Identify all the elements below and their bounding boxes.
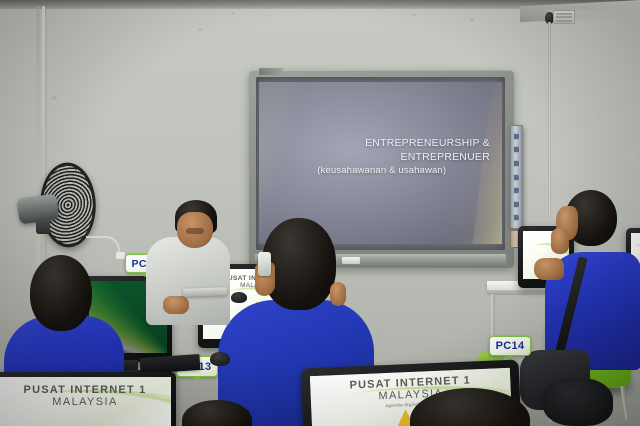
person-right-forearm [551,228,569,254]
instructor-hand [163,296,189,314]
workstation-label-pc14: PC14 [489,336,531,356]
slide-line-2: ENTREPRENUER [274,151,490,164]
wall-mark [52,96,57,100]
wall-mark [198,28,203,31]
toolbar-button-icon[interactable] [513,214,520,221]
whiteboard-side-toolbar[interactable] [510,125,523,229]
monitor-foreground-left[interactable]: PUSAT INTERNET 1 MALAYSIA [0,372,176,426]
toolbar-button-icon[interactable] [513,201,520,208]
instructor-smile [186,228,204,234]
mouse[interactable] [210,352,230,366]
wall-mark [470,18,474,21]
toolbar-button-icon[interactable] [513,133,520,140]
whiteboard-brand-logo [259,68,283,75]
student-left-head [30,255,92,331]
toolbar-button-icon[interactable] [513,187,520,194]
mobile-phone[interactable] [258,252,271,276]
shoulder-bag [543,378,613,426]
wall-mark [412,13,416,16]
workstation-label-text: PC14 [496,340,525,352]
wallpaper-heading-text: PUSAT INTERNET 1 [24,384,147,396]
desktop-wallpaper: PUSAT INTERNET 1 MALAYSIA [0,377,171,426]
wall-seam [42,6,45,302]
toolbar-button-icon[interactable] [513,146,520,153]
stylus-tray [183,287,227,297]
person-right-hand [534,258,564,280]
whiteboard-eraser-icon[interactable] [342,257,360,264]
fan-mount [36,218,50,234]
fan-plug [116,252,125,259]
wallpaper-heading: PUSAT INTERNET 1 MALAYSIA [0,384,171,408]
mouse-secondary[interactable] [231,292,247,303]
slide-line-1: ENTREPRENEURSHIP & [274,137,490,150]
student-centre-ear-area [330,282,346,306]
wallpaper-subheading-text: MALAYSIA [0,396,171,408]
wall-conduit [548,22,551,218]
monitor-screen[interactable]: PUSAT INTERNET 1 MALAYSIA [0,377,171,426]
slide-text-block: ENTREPRENEURSHIP & ENTREPRENUER (keusaha… [274,137,490,177]
wall-seam-shadow [36,6,40,302]
fan-power-cable [86,236,120,258]
toolbar-button-icon[interactable] [513,174,520,181]
wall-socket-plate [553,10,575,24]
classroom-photo: ENTREPRENEURSHIP & ENTREPRENUER (keusaha… [0,0,640,426]
slide-line-3: (keusahawanan & usahawan) [274,165,490,177]
instructor-torso [146,237,230,325]
toolbar-button-icon[interactable] [513,160,520,167]
wall-mark [231,12,235,15]
